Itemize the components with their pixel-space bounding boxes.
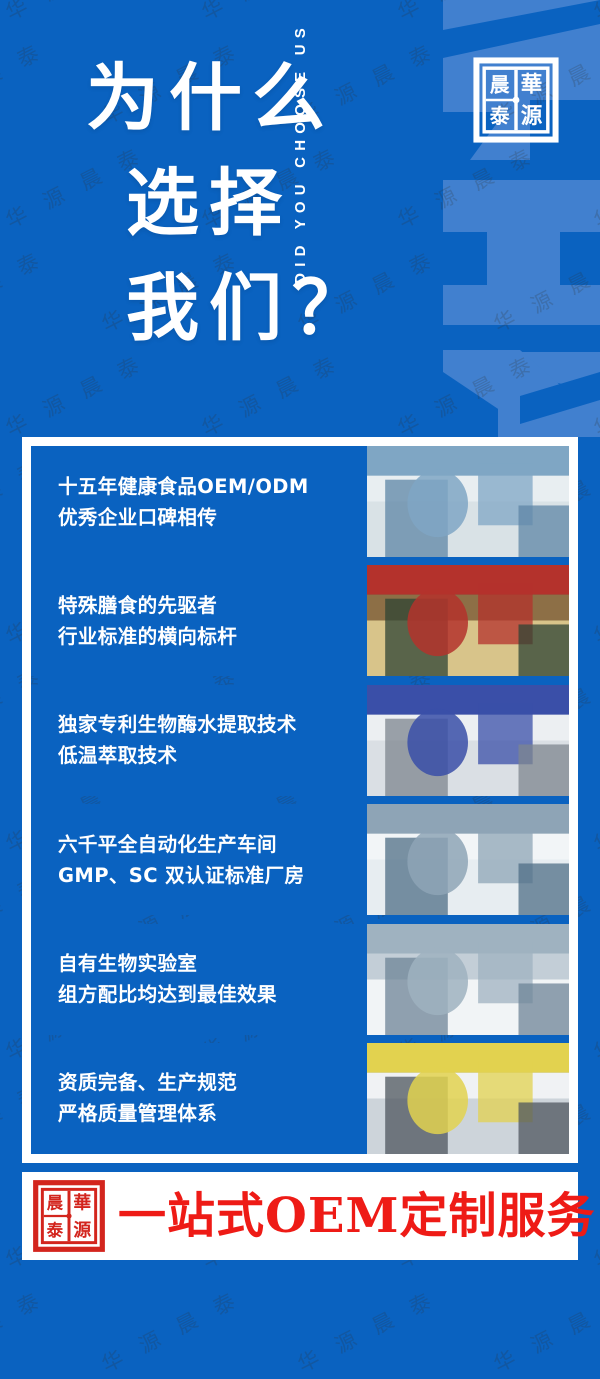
feature-card-text: 六千平全自动化生产车间GMP、SC 双认证标准厂房 xyxy=(31,804,361,915)
feature-card-line: 十五年健康食品OEM/ODM xyxy=(58,471,361,502)
title-line-2: 选择 xyxy=(86,151,386,256)
feature-card-text: 独家专利生物酶水提取技术低温萃取技术 xyxy=(31,685,361,796)
feature-card[interactable]: 六千平全自动化生产车间GMP、SC 双认证标准厂房 xyxy=(31,804,569,915)
banner-seal-icon: 華 源 晨 泰 xyxy=(32,1179,106,1253)
lab-technician-inspecting-vial xyxy=(367,446,569,557)
page-title: 为什么 选择 我们？ xyxy=(86,46,386,361)
vertical-caption: DID YOU CHOOSE US xyxy=(400,22,426,394)
feature-card[interactable]: 独家专利生物酶水提取技术低温萃取技术 xyxy=(31,685,569,796)
feature-card[interactable]: 自有生物实验室组方配比均达到最佳效果 xyxy=(31,924,569,1035)
hero-section: 为什么 选择 我们？ DID YOU CHOOSE US 華 源 晨 泰 xyxy=(0,0,600,437)
feature-cards-frame: 十五年健康食品OEM/ODM优秀企业口碑相传特殊膳食的先驱者行业标准的横向标杆独… xyxy=(22,437,578,1163)
feature-card-line: 组方配比均达到最佳效果 xyxy=(58,979,361,1010)
two-lab-researchers xyxy=(367,924,569,1035)
feature-card-line: 六千平全自动化生产车间 xyxy=(58,829,361,860)
feature-card-line: 优秀企业口碑相传 xyxy=(58,502,361,533)
svg-text:晨: 晨 xyxy=(490,72,510,96)
svg-text:華: 華 xyxy=(521,72,543,97)
feature-card-text: 十五年健康食品OEM/ODM优秀企业口碑相传 xyxy=(31,446,361,557)
feature-card[interactable]: 特殊膳食的先驱者行业标准的横向标杆 xyxy=(31,565,569,676)
feature-card-line: 资质完备、生产规范 xyxy=(58,1067,361,1098)
svg-text:泰: 泰 xyxy=(489,104,510,128)
svg-text:華: 華 xyxy=(73,1192,91,1214)
svg-text:泰: 泰 xyxy=(46,1221,64,1240)
svg-text:源: 源 xyxy=(521,104,543,129)
tablet-packaging-conveyor xyxy=(367,1043,569,1154)
svg-text:源: 源 xyxy=(73,1219,91,1241)
banner-headline: 一站式OEM定制服务 xyxy=(118,1188,596,1244)
feature-card-line: 低温萃取技术 xyxy=(58,740,361,771)
feature-card-line: 独家专利生物酶水提取技术 xyxy=(58,709,361,740)
feature-card-line: 严格质量管理体系 xyxy=(58,1098,361,1129)
cleanroom-production-workshop xyxy=(367,804,569,915)
vertical-caption-text: DID YOU CHOOSE US xyxy=(292,22,309,284)
filling-line-machinery xyxy=(367,685,569,796)
feature-card-line: GMP、SC 双认证标准厂房 xyxy=(58,860,361,891)
feature-card-text: 特殊膳食的先驱者行业标准的横向标杆 xyxy=(31,565,361,676)
company-seal-icon: 華 源 晨 泰 xyxy=(473,57,559,149)
svg-text:晨: 晨 xyxy=(47,1194,64,1213)
feature-cards-list: 十五年健康食品OEM/ODM优秀企业口碑相传特殊膳食的先驱者行业标准的横向标杆独… xyxy=(31,446,569,1154)
feature-card[interactable]: 资质完备、生产规范严格质量管理体系 xyxy=(31,1043,569,1154)
conference-audience-hall xyxy=(367,565,569,676)
feature-card-text: 自有生物实验室组方配比均达到最佳效果 xyxy=(31,924,361,1035)
bottom-banner: 華 源 晨 泰 一站式OEM定制服务 xyxy=(22,1172,578,1260)
feature-card-line: 自有生物实验室 xyxy=(58,948,361,979)
feature-card-line: 特殊膳食的先驱者 xyxy=(58,590,361,621)
title-line-1: 为什么 xyxy=(86,46,386,151)
title-line-3: 我们？ xyxy=(86,256,386,361)
feature-card[interactable]: 十五年健康食品OEM/ODM优秀企业口碑相传 xyxy=(31,446,569,557)
feature-card-text: 资质完备、生产规范严格质量管理体系 xyxy=(31,1043,361,1154)
feature-card-line: 行业标准的横向标杆 xyxy=(58,621,361,652)
